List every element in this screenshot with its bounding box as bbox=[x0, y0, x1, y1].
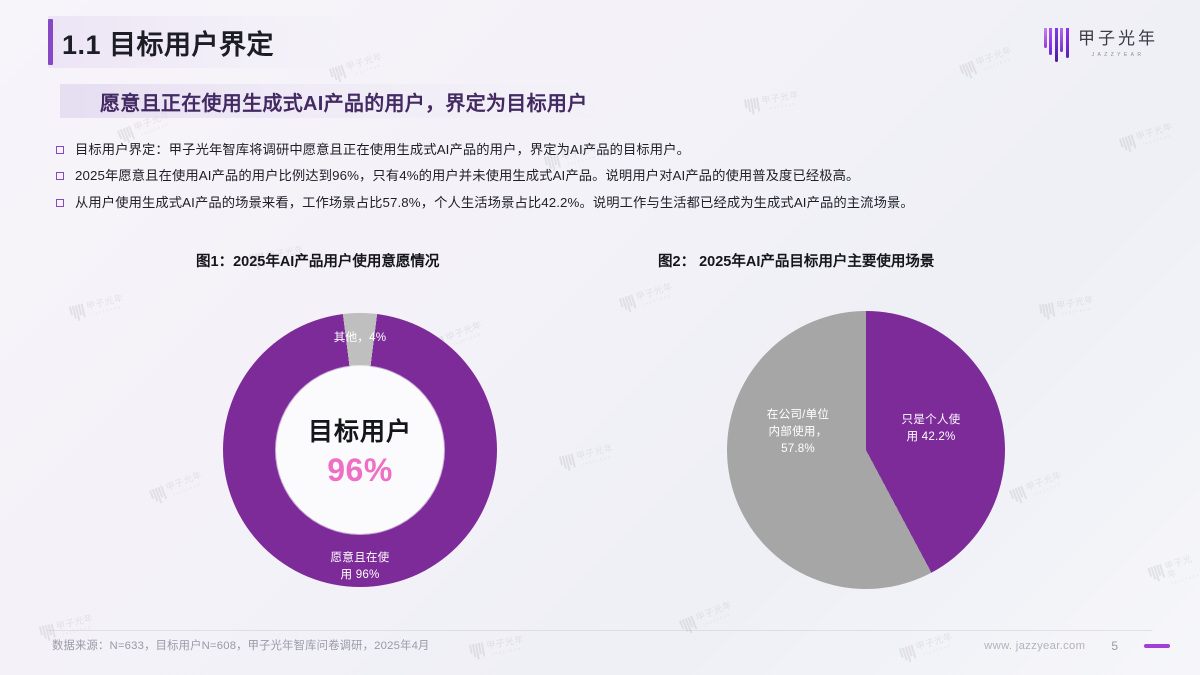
donut-center: 目标用户 96% bbox=[276, 366, 444, 534]
pie-slice-label-personal: 只是个人使 用 42.2% bbox=[878, 412, 984, 446]
logo-text: 甲子光年 JAZZYEAR bbox=[1078, 30, 1158, 58]
watermark-mark: 甲子光年JAZZYEAR bbox=[1039, 295, 1096, 320]
watermark-mark: 甲子光年JAZZYEAR bbox=[469, 635, 526, 660]
bullet-text: 目标用户界定：甲子光年智库将调研中愿意且正在使用生成式AI产品的用户，界定为AI… bbox=[75, 140, 690, 159]
chart1-title: 图1：2025年AI产品用户使用意愿情况 bbox=[196, 250, 439, 271]
donut-center-label: 目标用户 bbox=[308, 412, 412, 448]
watermark-mark: 甲子光年JAZZYEAR bbox=[1148, 553, 1200, 591]
watermark-mark: 甲子光年JAZZYEAR bbox=[1009, 470, 1066, 505]
watermark-mark: 甲子光年JAZZYEAR bbox=[619, 282, 676, 314]
list-item: 目标用户界定：甲子光年智库将调研中愿意且正在使用生成式AI产品的用户，界定为AI… bbox=[56, 140, 914, 159]
page-number: 5 bbox=[1111, 639, 1118, 653]
watermark-mark: 甲子光年JAZZYEAR bbox=[559, 444, 616, 473]
page-title-container: 1.1 目标用户界定 bbox=[48, 16, 364, 68]
title-accent-bar bbox=[48, 19, 53, 65]
watermark-mark: 甲子光年JAZZYEAR bbox=[69, 294, 126, 323]
footer-accent-bar bbox=[1144, 644, 1170, 648]
chart2-pie: 在公司/单位 内部使用， 57.8% 只是个人使 用 42.2% bbox=[718, 302, 1014, 598]
square-bullet-icon bbox=[56, 146, 64, 154]
subtitle-banner: 愿意且正在使用生成式AI产品的用户，界定为目标用户 bbox=[60, 84, 612, 118]
donut-slice-label-other: 其他，4% bbox=[300, 330, 420, 347]
logo-name-en: JAZZYEAR bbox=[1092, 52, 1145, 58]
list-item: 2025年愿意且在使用AI产品的用户比例达到96%，只有4%的用户并未使用生成式… bbox=[56, 166, 914, 185]
watermark-mark: 甲子光年JAZZYEAR bbox=[899, 632, 956, 664]
chart2-title: 图2： 2025年AI产品目标用户主要使用场景 bbox=[658, 250, 934, 271]
logo-bars-icon bbox=[1044, 28, 1069, 62]
list-item: 从用户使用生成式AI产品的场景来看，工作场景占比57.8%，个人生活场景占比42… bbox=[56, 193, 914, 212]
watermark-mark: 甲子光年JAZZYEAR bbox=[744, 90, 801, 115]
slide-header: 1.1 目标用户界定 甲子光年 JAZZYEAR bbox=[0, 16, 1200, 68]
bullet-text: 2025年愿意且在使用AI产品的用户比例达到96%，只有4%的用户并未使用生成式… bbox=[75, 166, 859, 185]
donut-center-value: 96% bbox=[327, 452, 393, 489]
subtitle-text: 愿意且正在使用生成式AI产品的用户，界定为目标用户 bbox=[100, 87, 588, 116]
footer-source-text: 数据来源：N=633，目标用户N=608，甲子光年智库问卷调研，2025年4月 bbox=[52, 637, 430, 653]
square-bullet-icon bbox=[56, 199, 64, 207]
page-title: 1.1 目标用户界定 bbox=[62, 23, 274, 62]
footer-url: www. jazzyear.com bbox=[984, 640, 1085, 652]
chart1-donut: 目标用户 96% 其他，4% 愿意且在使 用 96% bbox=[190, 300, 530, 600]
footer-divider bbox=[48, 630, 1152, 631]
logo-name-cn: 甲子光年 bbox=[1078, 30, 1158, 47]
bullet-list: 目标用户界定：甲子光年智库将调研中愿意且正在使用生成式AI产品的用户，界定为AI… bbox=[56, 140, 914, 219]
square-bullet-icon bbox=[56, 172, 64, 180]
brand-logo: 甲子光年 JAZZYEAR bbox=[1044, 28, 1158, 62]
bullet-text: 从用户使用生成式AI产品的场景来看，工作场景占比57.8%，个人生活场景占比42… bbox=[75, 193, 914, 212]
footer-right: www. jazzyear.com 5 bbox=[984, 639, 1170, 653]
pie-slice-label-company: 在公司/单位 内部使用， 57.8% bbox=[744, 407, 852, 457]
watermark-mark: 甲子光年JAZZYEAR bbox=[1119, 122, 1176, 154]
donut-slice-label-target: 愿意且在使 用 96% bbox=[305, 550, 415, 584]
